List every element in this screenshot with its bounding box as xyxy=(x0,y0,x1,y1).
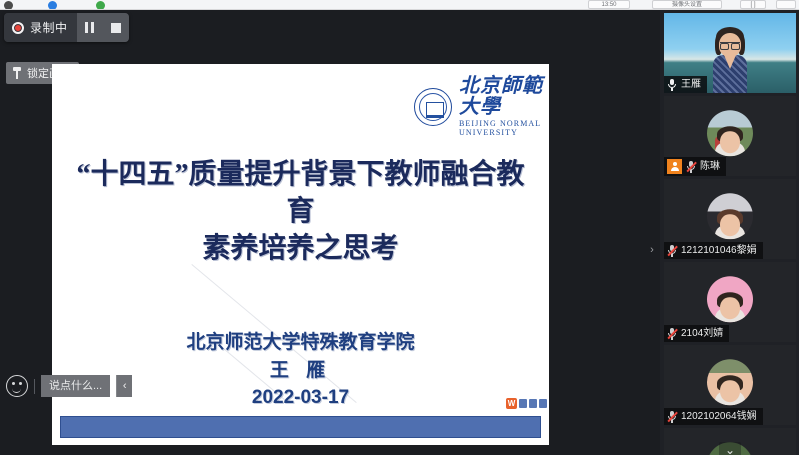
participant-name-band: 王雁 xyxy=(664,76,707,93)
participant-name: 陈琳 xyxy=(700,160,720,173)
participant-tile[interactable]: 1202102064钱娴 xyxy=(664,345,796,425)
participant-name-band: 1202102064钱娴 xyxy=(664,408,763,425)
slide-title-line-1: “十四五”质量提升背景下教师融合教育 xyxy=(66,156,535,230)
avatar xyxy=(707,359,753,405)
slide-floating-toolbar[interactable]: W xyxy=(504,397,549,410)
participant-tile[interactable]: ⌄ xyxy=(664,428,796,455)
recording-toolbar: 录制中 xyxy=(4,13,129,42)
chevron-down-icon[interactable]: ⌄ xyxy=(719,442,741,455)
meeting-window: 13:50 摄像头设置 [ ] 录制中 锁定画面 xyxy=(0,0,799,455)
chevron-right-icon[interactable]: › xyxy=(647,242,657,258)
participant-filmstrip[interactable]: 王雁 陈琳 xyxy=(660,10,799,455)
chat-input[interactable]: 说点什么... xyxy=(41,375,110,397)
composer-divider xyxy=(34,379,35,394)
participant-tile[interactable]: 陈琳 xyxy=(664,96,796,176)
participant-tile[interactable]: 1212101046黎娟 xyxy=(664,179,796,259)
microphone-muted-icon xyxy=(667,327,677,340)
slide-subtitle: 北京师范大学特殊教育学院 王 雁 2022-03-17 xyxy=(66,329,535,412)
microphone-icon xyxy=(667,78,677,91)
record-dot-icon xyxy=(12,22,24,34)
window-dot-2 xyxy=(48,1,57,10)
slide-presenter: 王 雁 xyxy=(66,357,535,385)
background-window-toolbar: 13:50 摄像头设置 [ ] xyxy=(0,0,799,10)
slide-affiliation: 北京师范大学特殊教育学院 xyxy=(66,329,535,357)
chat-composer: 说点什么... ‹ xyxy=(6,375,132,397)
window-dot-1 xyxy=(4,1,13,10)
participant-name: 2104刘婧 xyxy=(681,327,723,340)
stop-recording-button[interactable] xyxy=(103,13,129,42)
recording-status-label: 录制中 xyxy=(30,19,68,36)
participant-name-band: 2104刘婧 xyxy=(664,325,729,342)
slide-title-line-2: 素养培养之思考 xyxy=(66,230,535,267)
microphone-muted-icon xyxy=(686,160,696,173)
save-icon[interactable] xyxy=(519,399,527,408)
pause-icon xyxy=(85,22,94,33)
participant-name: 1202102064钱娴 xyxy=(681,410,757,423)
slide-date: 2022-03-17 xyxy=(66,384,535,412)
university-logo-text: 北京師範大學 BEIJING NORMAL UNIVERSITY xyxy=(459,76,549,137)
host-badge xyxy=(667,159,682,174)
window-dot-3 xyxy=(96,1,105,10)
video-person xyxy=(713,27,747,93)
avatar xyxy=(707,193,753,239)
microphone-muted-icon xyxy=(667,410,677,423)
shared-screen-stage: 录制中 锁定画面 北京師範大學 xyxy=(0,10,660,455)
undo-icon[interactable] xyxy=(529,399,537,408)
selected-text-placeholder[interactable] xyxy=(60,416,541,438)
stop-icon xyxy=(111,23,121,33)
avatar xyxy=(707,110,753,156)
background-extra-chip[interactable] xyxy=(776,0,796,9)
avatar xyxy=(707,276,753,322)
recording-buttons xyxy=(77,13,129,42)
university-seal-icon xyxy=(414,88,452,126)
slide-title: “十四五”质量提升背景下教师融合教育 素养培养之思考 xyxy=(66,156,535,268)
participant-name: 王雁 xyxy=(681,78,701,91)
pin-icon xyxy=(12,67,22,79)
university-logo: 北京師範大學 BEIJING NORMAL UNIVERSITY xyxy=(414,76,549,137)
background-camera-chip[interactable]: 摄像头设置 xyxy=(652,0,722,9)
background-fullscreen-chip[interactable]: [ ] xyxy=(740,0,766,9)
participant-name-band: 1212101046黎娟 xyxy=(664,242,763,259)
university-name-cn: 北京師範大學 xyxy=(459,76,549,118)
redo-icon[interactable] xyxy=(539,399,547,408)
recording-status: 录制中 xyxy=(4,13,77,42)
emoji-icon[interactable] xyxy=(6,375,28,397)
pause-recording-button[interactable] xyxy=(77,13,103,42)
chevron-left-icon[interactable]: ‹ xyxy=(116,375,132,397)
microphone-muted-icon xyxy=(667,244,677,257)
participant-tile[interactable]: 2104刘婧 xyxy=(664,262,796,342)
wps-icon[interactable]: W xyxy=(506,398,517,409)
participant-name-band: 陈琳 xyxy=(664,157,726,176)
university-name-en: BEIJING NORMAL UNIVERSITY xyxy=(459,119,549,137)
background-time-chip[interactable]: 13:50 xyxy=(588,0,630,9)
participant-tile[interactable]: 王雁 xyxy=(664,13,796,93)
participant-name: 1212101046黎娟 xyxy=(681,244,757,257)
